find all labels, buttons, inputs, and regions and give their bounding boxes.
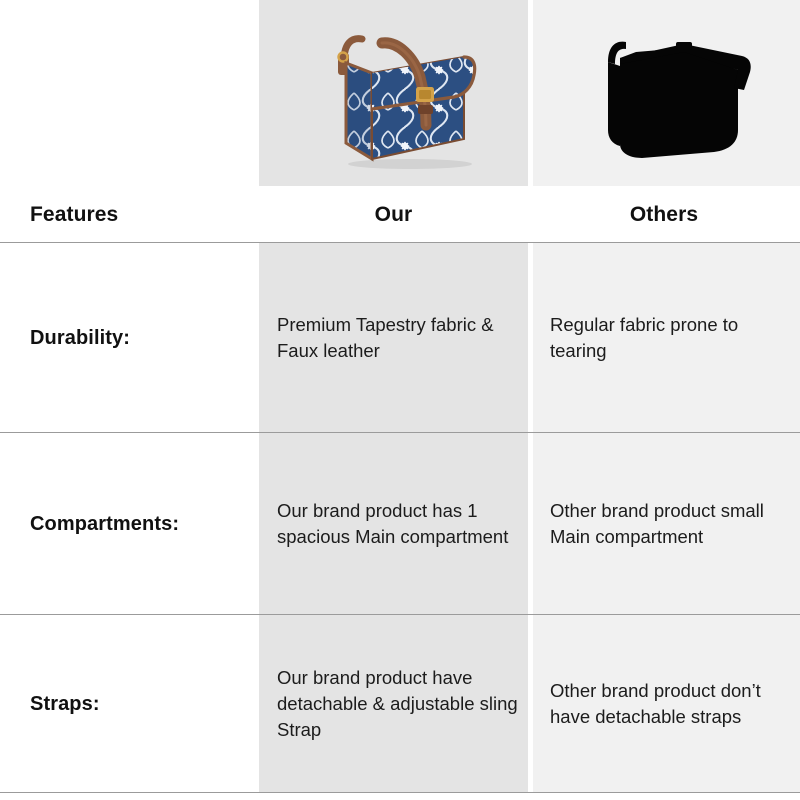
table-bottom-border: [0, 792, 800, 793]
table-row: Straps: Our brand product have detachabl…: [0, 615, 800, 793]
header-cell-features: Features: [0, 186, 259, 243]
feature-cell-straps: Straps:: [0, 615, 259, 793]
others-cell-straps: Other brand product don’t have detachabl…: [528, 615, 800, 793]
header-cell-our: Our: [259, 186, 528, 243]
media-spacer-cell: [0, 0, 259, 186]
our-value-compartments: Our brand product has 1 spacious Main co…: [259, 498, 528, 551]
feature-label-compartments: Compartments:: [30, 511, 179, 537]
our-product-image-cell: [259, 0, 528, 186]
others-value-durability: Regular fabric prone to tearing: [528, 312, 800, 365]
product-comparison-table: Features Our Others Durability: Premium …: [0, 0, 800, 800]
our-value-durability: Premium Tapestry fabric & Faux leather: [259, 312, 528, 365]
others-product-bag-image: [528, 0, 800, 186]
our-value-straps: Our brand product have detachable & adju…: [259, 665, 528, 744]
our-cell-durability: Premium Tapestry fabric & Faux leather: [259, 243, 528, 433]
our-cell-compartments: Our brand product has 1 spacious Main co…: [259, 433, 528, 615]
row-divider-1: [0, 432, 800, 433]
our-cell-straps: Our brand product have detachable & adju…: [259, 615, 528, 793]
feature-cell-durability: Durability:: [0, 243, 259, 433]
others-cell-durability: Regular fabric prone to tearing: [528, 243, 800, 433]
others-value-straps: Other brand product don’t have detachabl…: [528, 678, 800, 731]
header-cell-others: Others: [528, 186, 800, 243]
table-header-row: Features Our Others: [0, 186, 800, 243]
product-image-row: [0, 0, 800, 186]
our-product-bag-image: [259, 0, 528, 186]
feature-label-durability: Durability:: [30, 325, 130, 351]
others-column-title: Others: [528, 203, 800, 227]
header-divider: [0, 242, 800, 243]
feature-cell-compartments: Compartments:: [0, 433, 259, 615]
others-product-image-cell: [528, 0, 800, 186]
others-value-compartments: Other brand product small Main compartme…: [528, 498, 800, 551]
feature-label-straps: Straps:: [30, 691, 100, 717]
our-column-title: Our: [259, 203, 528, 227]
table-row: Durability: Premium Tapestry fabric & Fa…: [0, 243, 800, 433]
features-column-title: Features: [30, 203, 118, 227]
others-cell-compartments: Other brand product small Main compartme…: [528, 433, 800, 615]
row-divider-2: [0, 614, 800, 615]
table-row: Compartments: Our brand product has 1 sp…: [0, 433, 800, 615]
